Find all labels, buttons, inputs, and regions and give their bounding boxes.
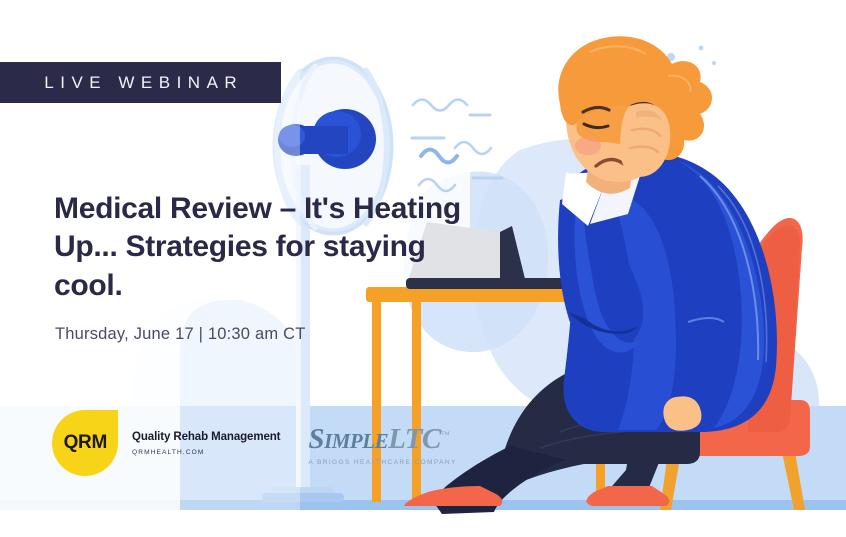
qrm-wordmark: Quality Rehab Management QRMHEALTH.COM — [132, 430, 280, 456]
qrm-website-url: QRMHEALTH.COM — [132, 449, 280, 456]
trademark-symbol: ™ — [441, 429, 449, 439]
simpleltc-imple: IMPLE — [324, 429, 388, 453]
live-webinar-banner: LIVE WEBINAR — [0, 62, 281, 103]
logo-row: QRM Quality Rehab Management QRMHEALTH.C… — [52, 410, 457, 476]
simpleltc-wordmark: SIMPLELTC™ — [308, 425, 456, 454]
webinar-promo-graphic: LIVE WEBINAR Medical Review – It's Heati… — [0, 0, 846, 537]
page-title: Medical Review – It's Heating Up... Stra… — [54, 190, 474, 305]
qrm-logo-mark: QRM — [52, 410, 118, 476]
qrm-logo-text: QRM — [63, 432, 106, 454]
live-webinar-label: LIVE WEBINAR — [38, 73, 243, 93]
webinar-datetime: Thursday, June 17 | 10:30 am CT — [55, 325, 305, 344]
simpleltc-logo: SIMPLELTC™ A BRIGGS HEALTHCARE COMPANY — [308, 425, 456, 466]
simpleltc-s: S — [308, 423, 324, 455]
qrm-company-name: Quality Rehab Management — [132, 430, 280, 444]
simpleltc-ltc: LTC — [388, 423, 441, 455]
simpleltc-tagline: A BRIGGS HEALTHCARE COMPANY — [308, 459, 456, 466]
